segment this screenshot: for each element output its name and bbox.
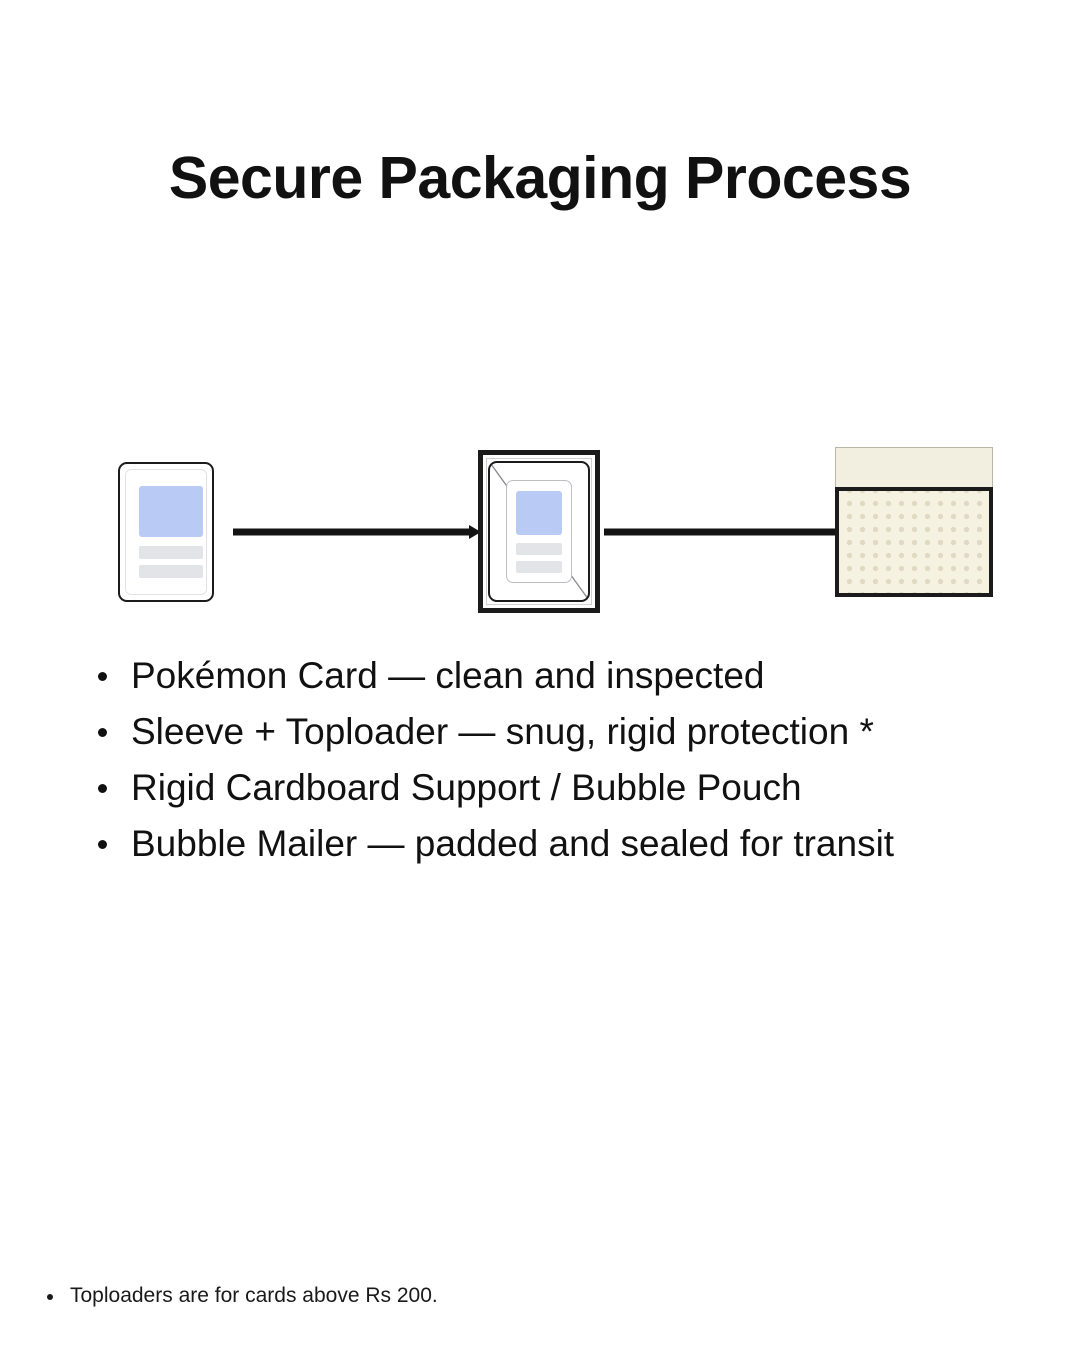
list-item: Sleeve + Toploader — snug, rigid protect…	[96, 704, 1056, 760]
packaging-flow-diagram	[0, 430, 1080, 630]
card-text-line	[516, 561, 562, 573]
packaging-steps-list: Pokémon Card — clean and inspected Sleev…	[96, 648, 1056, 872]
footnote-row: Toploaders are for cards above Rs 200.	[42, 1281, 842, 1311]
footnote: Toploaders are for cards above Rs 200.	[42, 1281, 842, 1311]
card-text-line	[139, 565, 203, 578]
mailer-body	[835, 487, 993, 597]
bullet-dot-icon	[98, 840, 107, 849]
list-item-label: Bubble Mailer — padded and sealed for tr…	[131, 823, 894, 864]
mailer-flap	[835, 447, 993, 489]
bullet-dot-icon	[47, 1294, 53, 1300]
flow-arrow-icon	[604, 522, 852, 542]
page-title: Secure Packaging Process	[0, 146, 1080, 211]
bullet-dot-icon	[98, 672, 107, 681]
list-item-label: Pokémon Card — clean and inspected	[131, 655, 764, 696]
list-item-label: Rigid Cardboard Support / Bubble Pouch	[131, 767, 802, 808]
card-text-line	[516, 543, 562, 555]
bullet-dot-icon	[98, 784, 107, 793]
list-item: Pokémon Card — clean and inspected	[96, 648, 1056, 704]
footnote-label: Toploaders are for cards above Rs 200.	[70, 1284, 438, 1307]
card-artwork-block	[139, 486, 203, 537]
flow-arrow-icon	[233, 522, 481, 542]
card-inside-sleeve	[506, 480, 572, 583]
list-item: Bubble Mailer — padded and sealed for tr…	[96, 816, 1056, 872]
sleeve-icon	[488, 461, 590, 602]
bubble-wrap-pattern	[839, 491, 989, 593]
card-artwork-block	[516, 491, 562, 535]
list-item-label: Sleeve + Toploader — snug, rigid protect…	[131, 711, 874, 752]
card-text-line	[139, 546, 203, 559]
bubble-mailer-icon	[835, 447, 993, 597]
bullet-dot-icon	[98, 728, 107, 737]
list-item: Rigid Cardboard Support / Bubble Pouch	[96, 760, 1056, 816]
toploader-icon	[478, 450, 600, 613]
trading-card-icon	[118, 462, 214, 602]
card-inner-frame	[125, 469, 207, 595]
